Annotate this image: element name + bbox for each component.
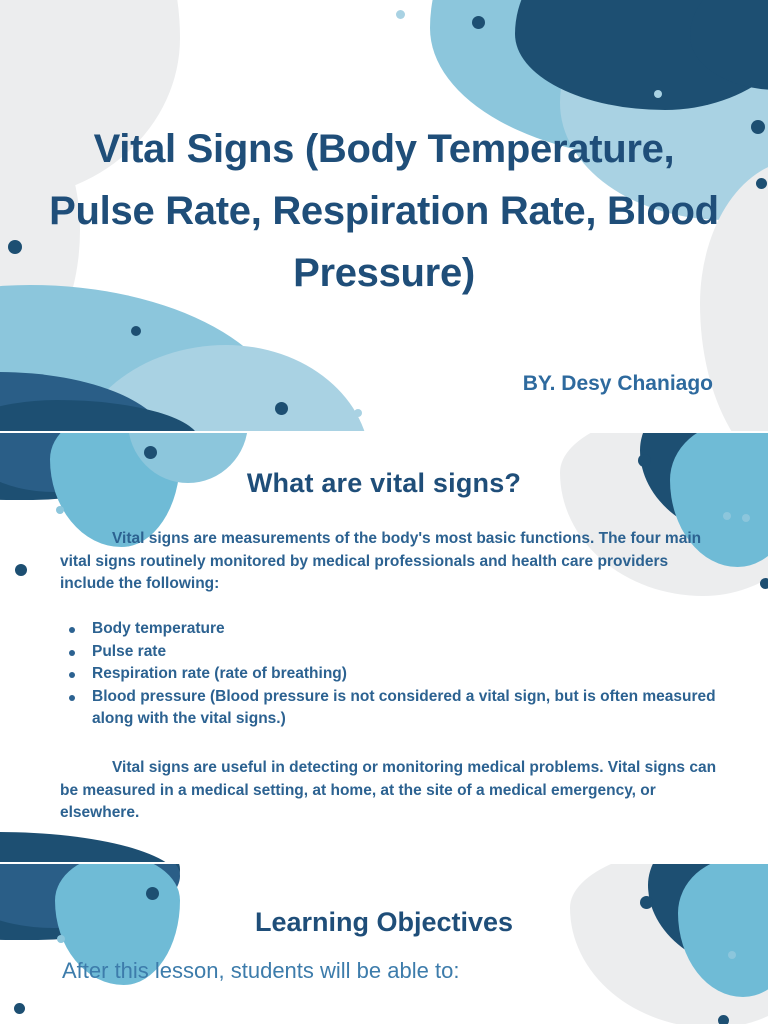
learning-objectives-heading: Learning Objectives <box>0 907 768 938</box>
slide-divider-1 <box>0 431 768 433</box>
slide-learning-objectives: Learning Objectives After this lesson, s… <box>0 863 768 1024</box>
page-title: Vital Signs (Body Temperature, Pulse Rat… <box>40 118 728 304</box>
intro-paragraph: Vital signs are measurements of the body… <box>60 528 720 596</box>
slide-3-text-layer: Learning Objectives After this lesson, s… <box>0 863 768 1024</box>
list-item: Blood pressure (Blood pressure is not co… <box>60 686 730 731</box>
slide-what-are-vital-signs: What are vital signs? Vital signs are me… <box>0 432 768 863</box>
list-item: Respiration rate (rate of breathing) <box>60 663 730 686</box>
slide-divider-2 <box>0 862 768 864</box>
slide-1-text-layer: Vital Signs (Body Temperature, Pulse Rat… <box>0 0 768 432</box>
closing-paragraph-text: Vital signs are useful in detecting or m… <box>60 759 716 821</box>
learning-objectives-subline: After this lesson, students will be able… <box>62 958 459 984</box>
list-item: Body temperature <box>60 618 730 641</box>
slide-2-text-layer: What are vital signs? Vital signs are me… <box>0 432 768 863</box>
list-item: Pulse rate <box>60 641 730 664</box>
closing-paragraph: Vital signs are useful in detecting or m… <box>60 757 720 825</box>
author-byline: BY. Desy Chaniago <box>523 372 713 396</box>
slide-document: Vital Signs (Body Temperature, Pulse Rat… <box>0 0 768 1024</box>
vital-signs-list: Body temperature Pulse rate Respiration … <box>60 618 730 731</box>
section-heading: What are vital signs? <box>0 468 768 499</box>
intro-paragraph-text: Vital signs are measurements of the body… <box>60 530 701 592</box>
slide-title: Vital Signs (Body Temperature, Pulse Rat… <box>0 0 768 432</box>
